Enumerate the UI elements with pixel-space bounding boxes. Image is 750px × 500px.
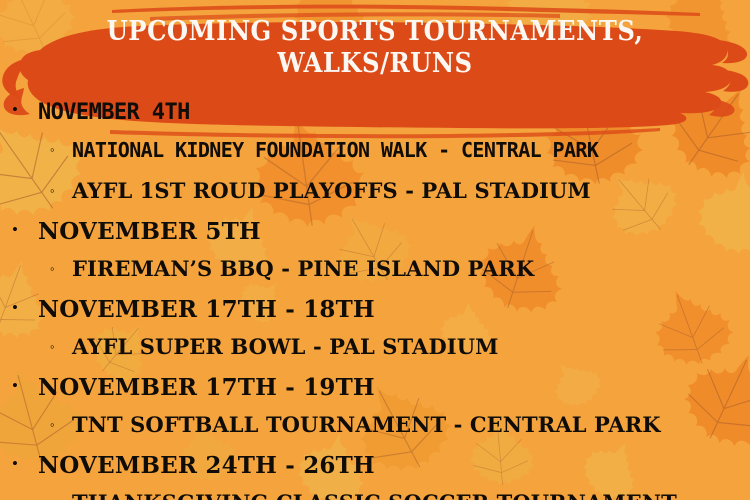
event-national-kidney-foundation-walk: ◦National Kidney Foundation Walk - Centr… xyxy=(0,138,750,178)
date-november-24th-26th: •November 24th - 26th xyxy=(0,452,750,490)
date-november-24th-26th-label: November 24th - 26th xyxy=(38,452,375,479)
poster-canvas: Upcoming Sports Tournaments, Walks/Runs … xyxy=(0,0,750,500)
bullet-level-1-icon: • xyxy=(12,101,38,118)
date-november-4th: •November 4th xyxy=(0,100,750,138)
event-firemans-bbq: ◦Fireman’s BBQ - Pine Island Park xyxy=(0,256,750,296)
bullet-level-1-icon: • xyxy=(12,299,38,316)
bullet-level-2-icon: ◦ xyxy=(50,340,72,353)
date-november-4th-label: November 4th xyxy=(38,100,190,125)
bullet-level-1-icon: • xyxy=(12,455,38,472)
agenda-list: •November 4th◦National Kidney Foundation… xyxy=(0,100,750,500)
date-november-5th: •November 5th xyxy=(0,218,750,256)
bullet-level-1-icon: • xyxy=(12,221,38,238)
bullet-level-2-icon: ◦ xyxy=(50,496,72,500)
date-november-5th-label: November 5th xyxy=(38,218,261,245)
date-november-17th-18th-label: November 17th - 18th xyxy=(38,296,375,323)
bullet-level-2-icon: ◦ xyxy=(50,262,72,275)
date-november-17th-19th-label: November 17th - 19th xyxy=(38,374,375,401)
bullet-level-2-icon: ◦ xyxy=(50,418,72,431)
bullet-level-2-icon: ◦ xyxy=(50,184,72,197)
title-line-1: Upcoming Sports Tournaments, xyxy=(0,16,750,48)
event-ayfl-super-bowl-label: AYFL Super Bowl - PAL Stadium xyxy=(72,334,498,359)
title-line-2: Walks/Runs xyxy=(0,48,750,80)
event-ayfl-super-bowl: ◦AYFL Super Bowl - PAL Stadium xyxy=(0,334,750,374)
event-ayfl-1st-roud-playoffs: ◦AYFL 1st Roud Playoffs - PAL Stadium xyxy=(0,178,750,218)
event-thanksgiving-classic-soccer-tournament-label: Thanksgiving Classic Soccer Tournament xyxy=(72,490,677,500)
bullet-level-1-icon: • xyxy=(12,377,38,394)
event-ayfl-1st-roud-playoffs-label: AYFL 1st Roud Playoffs - PAL Stadium xyxy=(72,178,591,203)
date-november-17th-18th: •November 17th - 18th xyxy=(0,296,750,334)
date-november-17th-19th: •November 17th - 19th xyxy=(0,374,750,412)
event-tnt-softball-tournament: ◦TNT Softball Tournament - Central Park xyxy=(0,412,750,452)
event-tnt-softball-tournament-label: TNT Softball Tournament - Central Park xyxy=(72,412,661,437)
bullet-level-2-icon: ◦ xyxy=(50,143,72,156)
event-firemans-bbq-label: Fireman’s BBQ - Pine Island Park xyxy=(72,256,534,281)
event-thanksgiving-classic-soccer-tournament: ◦Thanksgiving Classic Soccer Tournament xyxy=(0,490,750,500)
event-national-kidney-foundation-walk-label: National Kidney Foundation Walk - Centra… xyxy=(72,138,598,162)
poster-title: Upcoming Sports Tournaments, Walks/Runs xyxy=(0,16,750,80)
